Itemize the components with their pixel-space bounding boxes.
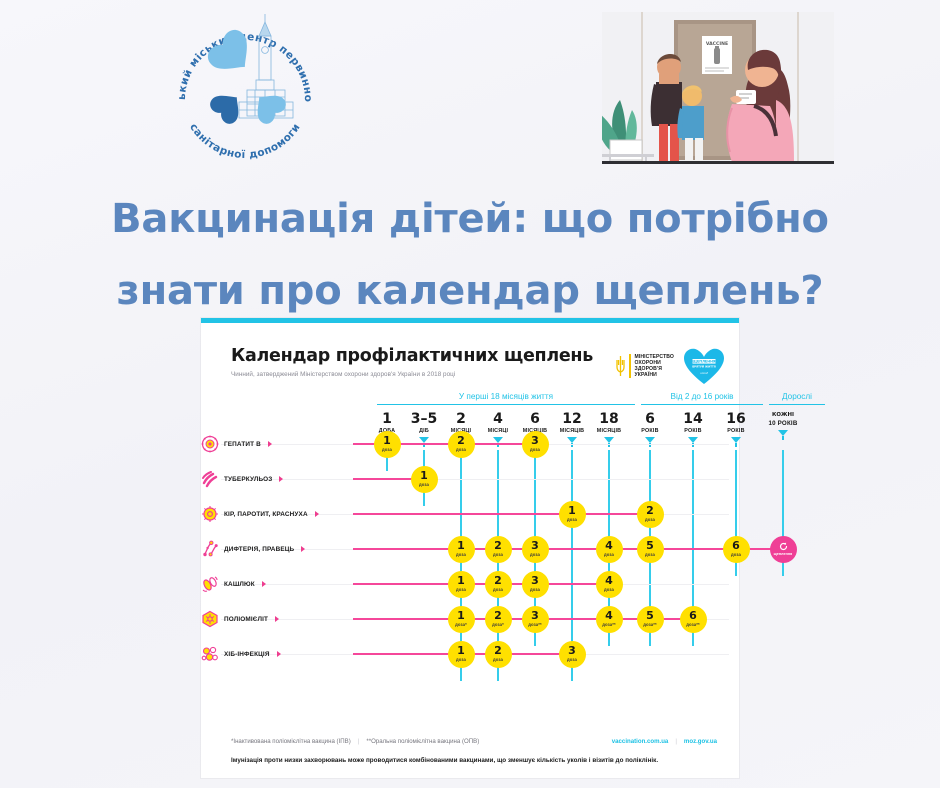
dose-label: доза [419,482,429,487]
age-column-unit: РОКІВ [674,428,712,434]
dose-bubble[interactable]: 2доза* [485,606,512,633]
dose-bubble[interactable]: 2доза [485,641,512,668]
page-title-line-2: знати про календар щеплень? [0,255,940,327]
pertussis-icon [201,575,219,593]
dose-label: щеплення [774,552,793,556]
infographic-footer: *Інактивована поліомієлітна вакцина (ІПВ… [201,738,739,778]
dose-label: доза [456,552,466,557]
dose-label: доза** [686,622,699,627]
disease-name: ХІБ-ІНФЕКЦІЯ [224,651,270,658]
age-column-unit: 10 РОКІВ [764,420,802,427]
footer-note: Імунізація проти низки захворювань може … [231,757,717,764]
measles-icon [201,505,219,523]
polio-icon [201,610,219,628]
row-arrow-icon [268,441,272,447]
dose-bubble[interactable]: 1доза [411,466,438,493]
unicef-heart-badge: ЩЕПЛЕННЯ ВРЯТУЙ ЖИТТЯ unicef [683,347,725,385]
slide-canvas: Коломийський міський центр первинної мед… [0,0,940,788]
hepatitis-icon [201,435,219,453]
dose-bubble[interactable]: 1доза [448,571,475,598]
age-column-value: 14 [674,412,712,427]
row-arrow-icon [315,511,319,517]
dose-bubble[interactable]: 2доза [448,431,475,458]
moz-logo: МІНІСТЕРСТВО ОХОРОНИ ЗДОРОВ'Я УКРАЇНИ [616,354,674,378]
row-arrow-icon [275,616,279,622]
clinic-illustration: VACCINE [602,12,834,164]
link-vaccination[interactable]: vaccination.com.ua [612,738,669,745]
dose-label: доза [604,587,614,592]
clinic-logo-graphic: Коломийський міський центр первинної мед… [163,2,323,177]
age-column-value: 6 [631,412,669,427]
age-column-7: 18МІСЯЦІВ [590,412,628,447]
age-column-10: 16РОКІВ [717,412,755,447]
dose-number: 5 [646,611,654,621]
dose-bubble[interactable]: 2доза [637,501,664,528]
disease-name: ТУБЕРКУЛЬОЗ [224,476,272,483]
page-title: Вакцинація дітей: що потрібно знати про … [0,183,940,327]
dose-label: доза [493,657,503,662]
row-arrow-icon [277,651,281,657]
dose-bubble[interactable]: 3доза** [522,606,549,633]
moz-line-4: УКРАЇНИ [635,372,674,378]
disease-row-label: КІР, ПАРОТИТ, КРАСНУХА [201,504,349,524]
moz-divider [629,354,630,378]
age-column-value: 4 [479,412,517,427]
dose-label: доза [382,447,392,452]
org-marks: МІНІСТЕРСТВО ОХОРОНИ ЗДОРОВ'Я УКРАЇНИ ЩЕ… [616,347,725,385]
clinic-illustration-graphic: VACCINE [602,12,834,164]
dose-label: доза [456,447,466,452]
age-group-header-3: Дорослі [769,392,825,405]
dose-number: 2 [646,506,654,516]
dose-number: 4 [605,541,613,551]
dose-number: 5 [646,541,654,551]
row-arrow-icon [279,476,283,482]
dose-bubble[interactable]: 5доза** [637,606,664,633]
dose-label: доза [731,552,741,557]
age-column-value: 6 [516,412,554,427]
dose-label: доза [530,447,540,452]
age-column-unit: РОКІВ [717,428,755,434]
dose-label: доза [604,552,614,557]
age-group-header-1: У перші 18 місяців життя [377,392,635,405]
age-column-value: 2 [442,412,480,427]
dose-bubble[interactable]: 4доза [596,571,623,598]
disease-row-label: ДИФТЕРІЯ, ПРАВЕЦЬ [201,539,349,559]
disease-row-label: ТУБЕРКУЛЬОЗ [201,469,349,489]
footnote-row: *Інактивована поліомієлітна вакцина (ІПВ… [231,738,717,745]
age-column-unit: МІСЯЦІ [479,428,517,434]
age-column-6: 12МІСЯЦІВ [553,412,591,447]
diphtheria-icon [201,540,219,558]
dose-bubble[interactable]: 3доза [522,571,549,598]
dose-bubble[interactable]: 3доза [522,431,549,458]
dose-bubble[interactable]: 1доза [559,501,586,528]
dose-number: 2 [494,576,502,586]
dose-label: доза* [455,622,467,627]
age-column-value: 12 [553,412,591,427]
footnote-opv: **Оральна поліомієлітна вакцина (ОПВ) [366,738,479,745]
dose-connector-line [353,513,650,515]
funnel-stem [735,443,737,447]
age-column-unit: ДІБ [405,428,443,434]
trident-icon [616,355,625,377]
dose-number: 1 [457,646,465,656]
age-column-unit: МІСЯЦІВ [590,428,628,434]
hib-icon [201,645,219,663]
svg-text:санітарної допомоги: санітарної допомоги [187,121,303,161]
age-column-value: КОЖНІ [764,412,802,419]
row-arrow-icon [301,546,305,552]
dose-bubble[interactable]: 6доза [723,536,750,563]
dose-bubble[interactable]: 1доза* [448,606,475,633]
dose-number: 3 [531,576,539,586]
vaccination-calendar-infographic: Календар профілактичних щеплень Чинний, … [201,318,739,778]
heart-icon: ЩЕПЛЕННЯ ВРЯТУЙ ЖИТТЯ unicef [683,347,725,385]
dose-number: 6 [689,611,697,621]
dose-number: 2 [494,541,502,551]
age-column-8: 6РОКІВ [631,412,669,447]
disease-row-label: ГЕПАТИТ В [201,434,349,454]
page-title-line-1: Вакцинація дітей: що потрібно [0,183,940,255]
disease-name: ГЕПАТИТ В [224,441,261,448]
dose-bubble[interactable]: 2доза [485,536,512,563]
footnote-divider-1: | [358,738,360,745]
vaccination-grid: У перші 18 місяців життяВід 2 до 16 рокі… [201,392,739,662]
dose-number: 2 [494,646,502,656]
dose-number: 1 [568,506,576,516]
dose-label: доза [493,587,503,592]
dose-label: доза* [492,622,504,627]
dose-number: 1 [457,611,465,621]
dose-label: доза** [528,622,541,627]
unicef-badge-line-3: unicef [700,371,708,375]
dose-number: 1 [457,576,465,586]
dose-label: доза** [602,622,615,627]
age-column-value: 1 [368,412,406,427]
revaccination-badge[interactable]: щеплення [770,536,797,563]
disease-name: ПОЛІОМІЄЛІТ [224,616,268,623]
dose-bubble[interactable]: 6доза** [680,606,707,633]
dose-label: доза [645,517,655,522]
dose-label: доза [567,517,577,522]
dose-number: 4 [605,576,613,586]
moz-text: МІНІСТЕРСТВО ОХОРОНИ ЗДОРОВ'Я УКРАЇНИ [635,354,674,378]
age-column-9: 14РОКІВ [674,412,712,447]
unicef-badge-line-1: ЩЕПЛЕННЯ [692,360,715,364]
dose-bubble[interactable]: 5доза [637,536,664,563]
funnel-stem [782,436,784,440]
age-column-value: 18 [590,412,628,427]
disease-name: ДИФТЕРІЯ, ПРАВЕЦЬ [224,546,294,553]
dose-label: доза [456,657,466,662]
dose-bubble[interactable]: 2доза [485,571,512,598]
dose-bubble[interactable]: 3доза [559,641,586,668]
dose-bubble[interactable]: 4доза** [596,606,623,633]
disease-row-label: ПОЛІОМІЄЛІТ [201,609,349,629]
age-column-value: 3–5 [405,412,443,427]
dose-number: 6 [732,541,740,551]
disease-row-label: ХІБ-ІНФЕКЦІЯ [201,644,349,664]
dose-label: доза [530,552,540,557]
age-column-value: 16 [717,412,755,427]
row-arrow-icon [262,581,266,587]
disease-name: КАШЛЮК [224,581,255,588]
clinic-logo: Коломийський міський центр первинної мед… [163,2,323,177]
dose-number: 3 [568,646,576,656]
dose-bubble[interactable]: 1доза [448,641,475,668]
dose-number: 3 [531,611,539,621]
tuberculosis-icon [201,470,219,488]
dose-bubble[interactable]: 1доза [448,536,475,563]
dose-label: доза** [643,622,656,627]
disease-row-label: КАШЛЮК [201,574,349,594]
infographic-header: Календар профілактичних щеплень Чинний, … [201,323,739,378]
dose-number: 3 [531,541,539,551]
footnote-ipv: *Інактивована поліомієлітна вакцина (ІПВ… [231,738,351,745]
dose-number: 1 [420,471,428,481]
moz-line-1: МІНІСТЕРСТВО [635,354,674,360]
refresh-icon [779,542,788,551]
dose-number: 4 [605,611,613,621]
dose-connector-line [353,583,609,585]
dose-label: доза [493,552,503,557]
age-column-4: 4МІСЯЦІ [479,412,517,447]
dose-connector-line [353,548,783,550]
dose-bubble[interactable]: 4доза [596,536,623,563]
dose-label: доза [456,587,466,592]
dose-bubble[interactable]: 3доза [522,536,549,563]
dose-number: 1 [383,436,391,446]
dose-label: доза [530,587,540,592]
age-column-unit: МІСЯЦІВ [553,428,591,434]
dose-bubble[interactable]: 1доза [374,431,401,458]
dose-number: 1 [457,541,465,551]
dose-number: 2 [457,436,465,446]
age-column-11: КОЖНІ10 РОКІВ [764,412,802,440]
footnote-divider-2: | [675,738,677,745]
age-column-2: 3–5ДІБ [405,412,443,447]
dose-number: 2 [494,611,502,621]
dose-number: 3 [531,436,539,446]
dose-label: доза [567,657,577,662]
disease-name: КІР, ПАРОТИТ, КРАСНУХА [224,511,308,518]
age-column-unit: РОКІВ [631,428,669,434]
dose-label: доза [645,552,655,557]
link-moz[interactable]: moz.gov.ua [684,738,717,745]
age-group-header-2: Від 2 до 16 років [641,392,763,405]
